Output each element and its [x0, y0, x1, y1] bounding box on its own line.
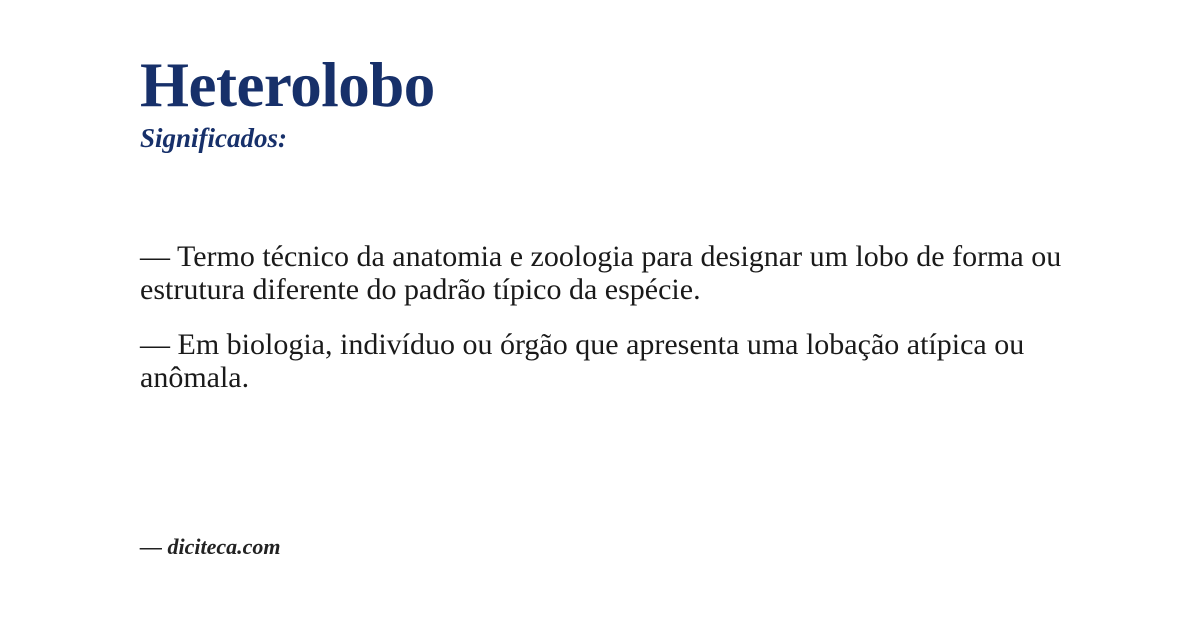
- definition-item: — Termo técnico da anatomia e zoologia p…: [140, 240, 1070, 306]
- definition-text: Em biologia, indivíduo ou órgão que apre…: [140, 328, 1024, 394]
- definition-text: Termo técnico da anatomia e zoologia par…: [140, 240, 1061, 306]
- card-footer: — diciteca.com: [140, 534, 740, 560]
- source-attribution: — diciteca.com: [140, 534, 740, 560]
- definition-card: Heterolobo Significados: — Termo técnico…: [0, 0, 1200, 628]
- page-title: Heterolobo: [140, 52, 1100, 118]
- em-dash-marker: —: [140, 328, 170, 361]
- card-header: Heterolobo Significados:: [140, 52, 1100, 154]
- em-dash-marker: —: [140, 240, 170, 273]
- definitions-list: — Termo técnico da anatomia e zoologia p…: [140, 240, 1070, 394]
- meanings-label: Significados:: [140, 124, 1100, 154]
- definition-item: — Em biologia, indivíduo ou órgão que ap…: [140, 328, 1070, 394]
